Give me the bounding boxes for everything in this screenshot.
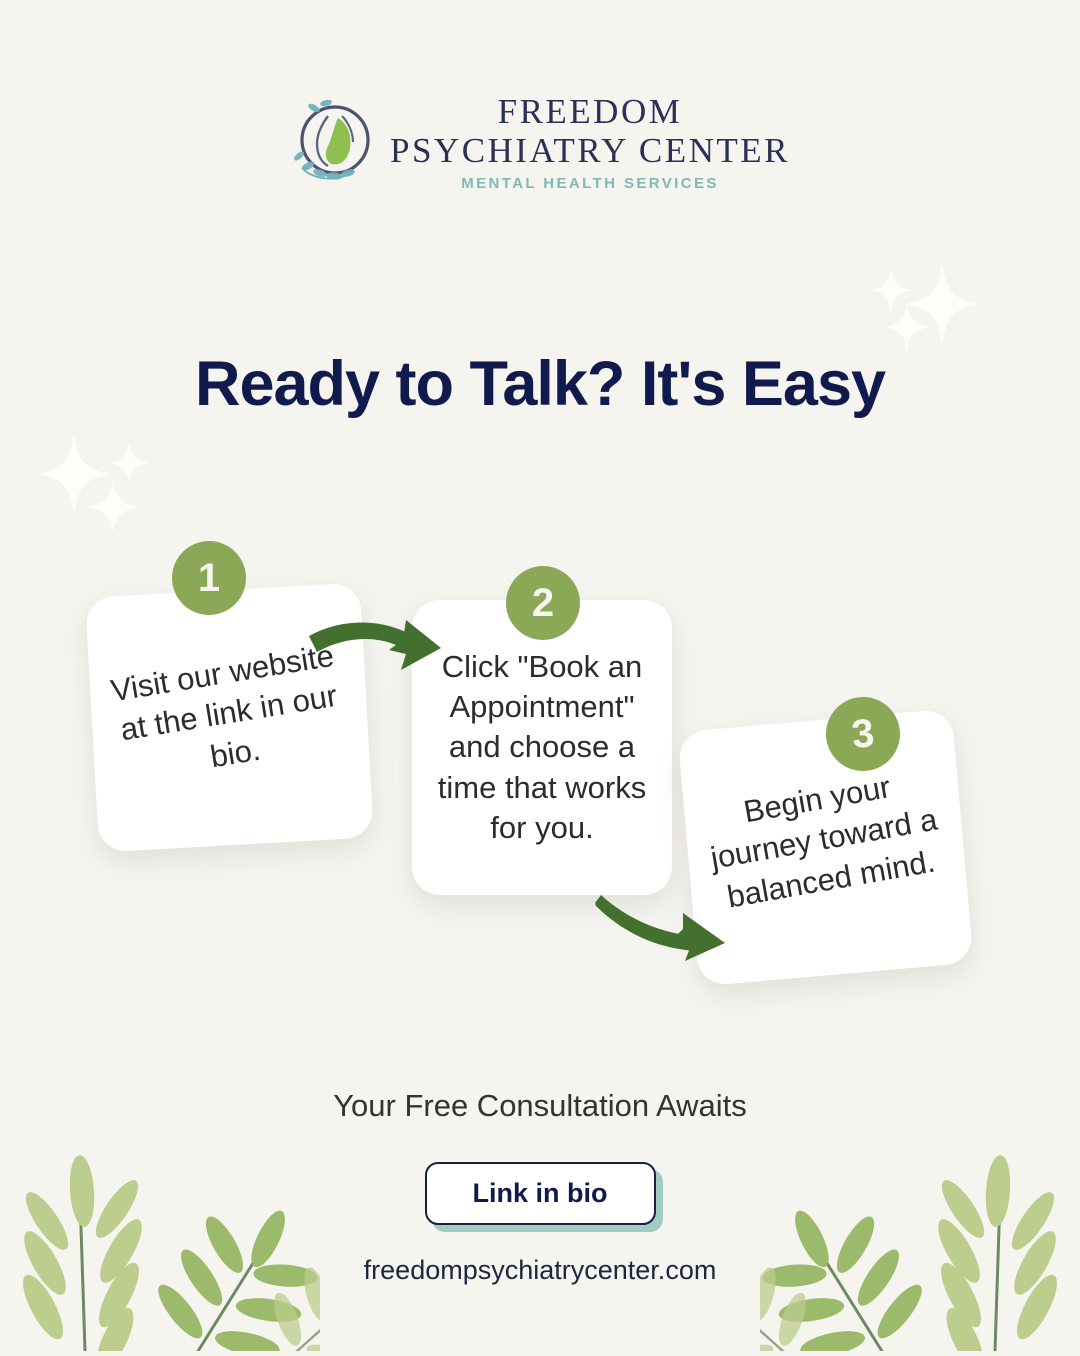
foliage-decoration-right	[760, 1136, 1080, 1356]
circle-figure-leaves-logo-icon	[290, 94, 376, 190]
arrow-step2-to-step3	[595, 885, 755, 970]
step-badge-1: 1	[172, 541, 246, 615]
page-title: Ready to Talk? It's Easy	[0, 348, 1080, 420]
foliage-decoration-left	[0, 1136, 320, 1356]
brand-logo: FREEDOM PSYCHIATRY CENTER MENTAL HEALTH …	[0, 92, 1080, 192]
step-badge-2: 2	[506, 566, 580, 640]
brand-name-line2: PSYCHIATRY CENTER	[390, 131, 790, 170]
brand-wordmark: FREEDOM PSYCHIATRY CENTER MENTAL HEALTH …	[390, 92, 790, 192]
poster-canvas: FREEDOM PSYCHIATRY CENTER MENTAL HEALTH …	[0, 0, 1080, 1350]
brand-tagline: MENTAL HEALTH SERVICES	[461, 175, 719, 192]
arrow-step1-to-step2	[305, 612, 465, 687]
link-in-bio-button[interactable]: Link in bio	[425, 1162, 656, 1225]
brand-name-line1: FREEDOM	[498, 92, 683, 131]
consultation-tagline: Your Free Consultation Awaits	[0, 1088, 1080, 1124]
sparkle-cluster-left	[32, 428, 167, 533]
sparkle-cluster-top-right	[852, 258, 982, 358]
